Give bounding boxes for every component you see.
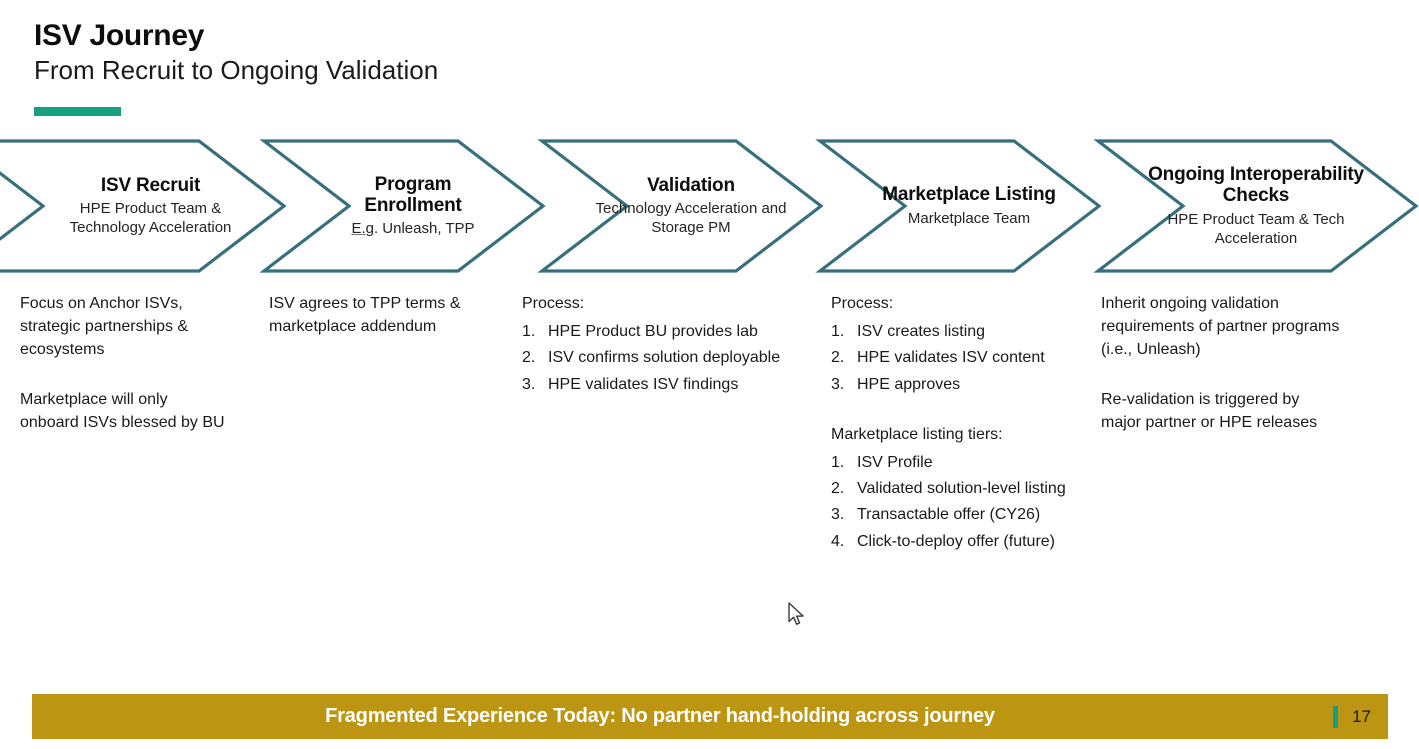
column-4-tier-2-text: Validated solution-level listing: [857, 480, 1066, 497]
list-item: 2. Validated solution-level listing: [831, 477, 1106, 500]
column-1-p1-line1: Focus on Anchor ISVs,: [20, 295, 183, 312]
column-4-tier-4-text: Click-to-deploy offer (future): [857, 533, 1055, 550]
chevron-title-3: Validation: [647, 175, 735, 196]
column-1-p2-line1: Marketplace will only: [20, 391, 168, 408]
chevron-subtitle-2-prefix: E.g: [351, 220, 374, 237]
chevron-text-isv-recruit: ISV Recruit HPE Product Team & Technolog…: [58, 139, 243, 273]
page-title: ISV Journey: [34, 20, 734, 52]
chevron-text-program-enrollment: Program Enrollment E.g. Unleash, TPP: [318, 139, 508, 273]
chevron-text-validation: Validation Technology Acceleration and S…: [586, 139, 796, 273]
chevron-subtitle-5-line1: HPE Product Team & Tech: [1167, 211, 1344, 228]
list-item: 3. HPE approves: [831, 373, 1106, 396]
title-accent-bar: [34, 107, 121, 116]
list-item: 4. Click-to-deploy offer (future): [831, 530, 1106, 553]
column-5-p2-line2: major partner or HPE releases: [1101, 414, 1317, 431]
column-1-p1-line3: ecosystems: [20, 341, 104, 358]
column-5-p1-line3: (i.e., Unleash): [1101, 341, 1201, 358]
chevron-title-5: Ongoing Interoperability Checks: [1148, 164, 1364, 207]
column-ongoing-interoperability: Inherit ongoing validation requirements …: [1101, 292, 1401, 434]
column-4-tier-3-number: 3.: [831, 503, 844, 526]
column-3-item-1-number: 1.: [522, 320, 535, 343]
chevron-subtitle-5-line2: Acceleration: [1215, 230, 1298, 247]
column-5-p2-line1: Re-validation is triggered by: [1101, 391, 1299, 408]
process-chevron-band: ISV Recruit HPE Product Team & Technolog…: [0, 139, 1419, 273]
column-4-lead-2: Marketplace listing tiers:: [831, 423, 1106, 446]
column-4-tier-3-text: Transactable offer (CY26): [857, 506, 1040, 523]
chevron-text-ongoing-interoperability-checks: Ongoing Interoperability Checks HPE Prod…: [1136, 139, 1376, 273]
column-4-tier-1-text: ISV Profile: [857, 454, 933, 471]
column-4-process-list: 1. ISV creates listing 2. HPE validates …: [831, 320, 1106, 396]
chevron-subtitle-3-line1: Technology Acceleration and: [596, 200, 787, 217]
chevron-subtitle-2: E.g. Unleash, TPP: [351, 219, 474, 238]
column-4-item-2-number: 2.: [831, 346, 844, 369]
column-4-tier-1-number: 1.: [831, 451, 844, 474]
column-4-tier-4-number: 4.: [831, 530, 844, 553]
chevron-subtitle-4: Marketplace Team: [908, 209, 1030, 228]
column-3-item-3-text: HPE validates ISV findings: [548, 376, 738, 393]
column-4-spacer: [831, 399, 1106, 423]
column-program-enrollment: ISV agrees to TPP terms & marketplace ad…: [269, 292, 514, 338]
column-4-item-3-text: HPE approves: [857, 376, 960, 393]
list-item: 1. ISV Profile: [831, 451, 1106, 474]
column-2-p1-line2: marketplace addendum: [269, 318, 436, 335]
chevron-subtitle-3: Technology Acceleration and Storage PM: [596, 199, 787, 237]
column-4-item-3-number: 3.: [831, 373, 844, 396]
column-5-spacer: [1101, 362, 1401, 388]
column-2-paragraph-1: ISV agrees to TPP terms & marketplace ad…: [269, 292, 514, 338]
list-item: 2. HPE validates ISV content: [831, 346, 1106, 369]
column-5-paragraph-1: Inherit ongoing validation requirements …: [1101, 292, 1401, 362]
chevron-subtitle-3-line2: Storage PM: [651, 219, 730, 236]
chevron-title-2: Program Enrollment: [324, 174, 502, 217]
chevron-subtitle-2-rest: . Unleash, TPP: [374, 220, 475, 237]
chevron-subtitle-1-line2: Technology Acceleration: [70, 219, 232, 236]
column-1-p1-line2: strategic partnerships &: [20, 318, 188, 335]
column-2-p1-line1: ISV agrees to TPP terms &: [269, 295, 461, 312]
title-block: ISV Journey From Recruit to Ongoing Vali…: [34, 20, 734, 86]
column-validation: Process: 1. HPE Product BU provides lab …: [522, 292, 822, 399]
column-isv-recruit: Focus on Anchor ISVs, strategic partners…: [20, 292, 255, 434]
column-4-tier-2-number: 2.: [831, 477, 844, 500]
mouse-cursor-icon: [788, 602, 806, 628]
bottom-banner: Fragmented Experience Today: No partner …: [32, 694, 1388, 739]
column-3-item-1-text: HPE Product BU provides lab: [548, 323, 758, 340]
column-3-lead: Process:: [522, 292, 822, 315]
column-3-item-2-text: ISV confirms solution deployable: [548, 349, 780, 366]
chevron-title-4: Marketplace Listing: [882, 184, 1056, 205]
chevron-subtitle-1: HPE Product Team & Technology Accelerati…: [70, 199, 232, 237]
column-4-item-1-text: ISV creates listing: [857, 323, 985, 340]
chevron-title-1: ISV Recruit: [101, 175, 200, 196]
column-3-item-3-number: 3.: [522, 373, 535, 396]
column-1-p2-line2: onboard ISVs blessed by BU: [20, 414, 225, 431]
column-3-item-2-number: 2.: [522, 346, 535, 369]
chevron-title-5-line2: Checks: [1223, 185, 1289, 206]
list-item: 3. Transactable offer (CY26): [831, 503, 1106, 526]
column-1-paragraph-1: Focus on Anchor ISVs, strategic partners…: [20, 292, 255, 362]
column-4-tiers-list: 1. ISV Profile 2. Validated solution-lev…: [831, 451, 1106, 553]
column-4-item-2-text: HPE validates ISV content: [857, 349, 1045, 366]
page-accent-bar: [1333, 706, 1338, 728]
column-5-paragraph-2: Re-validation is triggered by major part…: [1101, 388, 1401, 434]
chevron-subtitle-5: HPE Product Team & Tech Acceleration: [1167, 210, 1344, 248]
column-3-process-list: 1. HPE Product BU provides lab 2. ISV co…: [522, 320, 822, 396]
chevron-title-5-line1: Ongoing Interoperability: [1148, 164, 1364, 185]
page-number: 17: [1352, 707, 1371, 727]
list-item: 1. ISV creates listing: [831, 320, 1106, 343]
column-5-p1-line2: requirements of partner programs: [1101, 318, 1339, 335]
chevron-subtitle-1-line1: HPE Product Team &: [80, 200, 221, 217]
column-5-p1-line1: Inherit ongoing validation: [1101, 295, 1279, 312]
list-item: 3. HPE validates ISV findings: [522, 373, 822, 396]
page-number-group: 17: [1333, 706, 1371, 728]
column-1-spacer: [20, 362, 255, 388]
list-item: 2. ISV confirms solution deployable: [522, 346, 822, 369]
column-marketplace-listing: Process: 1. ISV creates listing 2. HPE v…: [831, 292, 1106, 556]
column-4-item-1-number: 1.: [831, 320, 844, 343]
column-1-paragraph-2: Marketplace will only onboard ISVs bless…: [20, 388, 255, 434]
chevron-text-marketplace-listing: Marketplace Listing Marketplace Team: [866, 139, 1072, 273]
page-subtitle: From Recruit to Ongoing Validation: [34, 55, 734, 86]
column-4-lead: Process:: [831, 292, 1106, 315]
banner-text: Fragmented Experience Today: No partner …: [325, 705, 995, 728]
list-item: 1. HPE Product BU provides lab: [522, 320, 822, 343]
